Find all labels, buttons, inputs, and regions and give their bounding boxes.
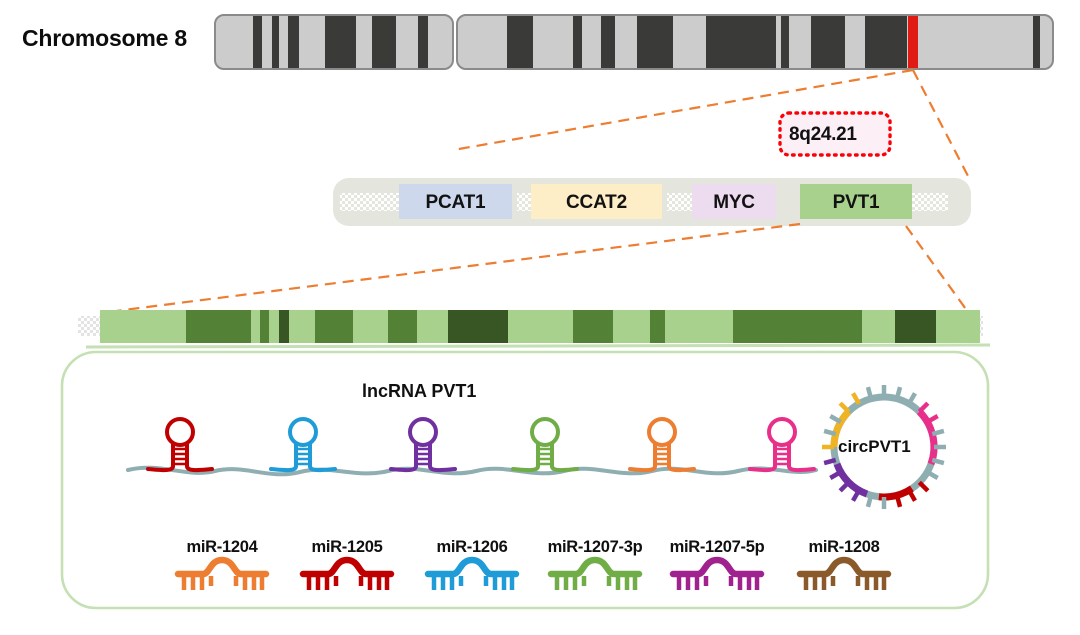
- figure-canvas: Chromosome 8 8q24.21 PCAT1 CCAT2 MYC PVT…: [0, 0, 1080, 635]
- connector-locus-to-genemodel: [108, 224, 968, 312]
- mirna-glyph-1208: [800, 560, 888, 590]
- mirna-label-1207-3p: miR-1207-3p: [533, 538, 657, 557]
- gene-label-myc: MYC: [692, 192, 776, 214]
- hairpin-5-orange-render: [630, 419, 694, 470]
- mirna-glyphs: [178, 560, 888, 590]
- gene-label-pvt1: PVT1: [800, 192, 912, 214]
- mirna-glyph-1207-5p: [673, 560, 761, 590]
- chromosome-ideogram: [215, 15, 1053, 69]
- page-title: Chromosome 8: [22, 25, 187, 52]
- hairpin-1: [148, 419, 212, 470]
- mirna-label-1206: miR-1206: [422, 538, 522, 557]
- lncrna-backbone: [128, 468, 816, 475]
- gene-label-ccat2: CCAT2: [531, 192, 662, 214]
- mirna-label-1207-5p: miR-1207-5p: [655, 538, 779, 557]
- hairpin-group: [148, 419, 577, 470]
- mirna-label-1205: miR-1205: [297, 538, 397, 557]
- mirna-label-1208: miR-1208: [794, 538, 894, 557]
- mirna-glyph-1205: [303, 560, 391, 590]
- chromosome-arm-p: [215, 15, 453, 69]
- cytoband-marker-8q2421: [908, 15, 918, 69]
- hairpin-4: [513, 419, 577, 470]
- gene-label-pcat1: PCAT1: [399, 192, 512, 214]
- mirna-label-1204: miR-1204: [172, 538, 272, 557]
- cytoband-label: 8q24.21: [789, 124, 857, 146]
- hairpin-6-pink-render: [750, 419, 814, 470]
- mirna-glyph-1207-3p: [551, 560, 639, 590]
- hairpin-2: [271, 419, 335, 470]
- lncrna-label: lncRNA PVT1: [362, 381, 476, 402]
- hairpin-3: [391, 419, 455, 470]
- circrna-label: circPVT1: [838, 437, 911, 457]
- mirna-glyph-1206: [428, 560, 516, 590]
- chromosome-arm-q: [457, 15, 1053, 69]
- mirna-glyph-1204: [178, 560, 266, 590]
- gene-model-pvt1: [78, 310, 990, 347]
